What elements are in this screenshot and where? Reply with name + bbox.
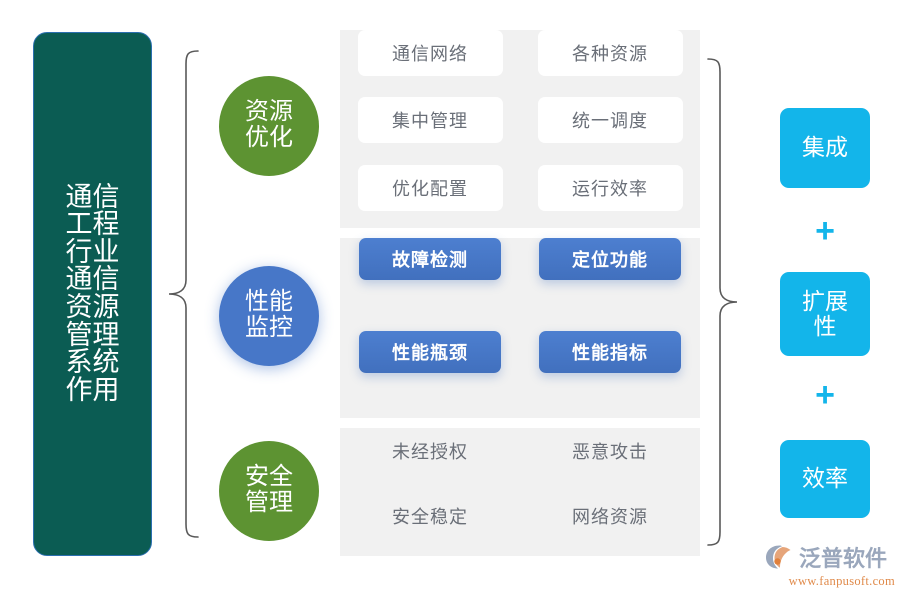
system-title-text: 通信工程行业通信资源管理系统作用	[56, 184, 130, 404]
logo-row: 泛普软件	[765, 541, 895, 573]
category-label: 安全管理	[241, 465, 297, 517]
resource-card[interactable]: 各种资源	[538, 30, 683, 76]
security-item: 网络资源	[572, 493, 648, 539]
security-item: 恶意攻击	[572, 428, 648, 474]
outcome-label: 效率	[797, 466, 853, 491]
plus-operator-icon: +	[780, 378, 870, 412]
logo-website-url: www.fanpusoft.com	[765, 574, 895, 589]
outcome-label: 扩展性	[797, 289, 853, 340]
category-circle-performance-monitoring[interactable]: 性能监控	[219, 266, 319, 366]
security-item: 未经授权	[392, 428, 468, 474]
performance-card[interactable]: 性能指标	[539, 331, 681, 373]
outcome-box-scalability[interactable]: 扩展性	[780, 272, 870, 356]
left-curly-brace-icon	[166, 48, 200, 540]
category-circle-resource-optimization[interactable]: 资源优化	[219, 76, 319, 176]
panel-performance-monitoring: 故障检测 定位功能 性能瓶颈 性能指标	[340, 238, 700, 418]
right-curly-brace-icon	[706, 56, 740, 548]
outcome-box-integration[interactable]: 集成	[780, 108, 870, 188]
resource-card[interactable]: 统一调度	[538, 97, 683, 143]
category-label: 性能监控	[241, 290, 297, 342]
performance-card[interactable]: 性能瓶颈	[359, 331, 501, 373]
performance-card[interactable]: 定位功能	[539, 238, 681, 280]
resource-card[interactable]: 运行效率	[538, 165, 683, 211]
performance-card[interactable]: 故障检测	[359, 238, 501, 280]
resource-card[interactable]: 优化配置	[358, 165, 503, 211]
diagram-canvas: 通信工程行业通信资源管理系统作用 资源优化 性能监控 安全管理 通信网络 各种资…	[0, 0, 900, 600]
category-circle-security-management[interactable]: 安全管理	[219, 441, 319, 541]
panel-resource-optimization: 通信网络 各种资源 集中管理 统一调度 优化配置 运行效率	[340, 30, 700, 228]
system-title-panel: 通信工程行业通信资源管理系统作用	[33, 32, 152, 556]
security-item: 安全稳定	[392, 493, 468, 539]
outcome-label: 集成	[797, 135, 853, 160]
panel-security-management: 未经授权 恶意攻击 安全稳定 网络资源	[340, 428, 700, 556]
brand-logo[interactable]: 泛普软件 www.fanpusoft.com	[765, 541, 895, 589]
plus-operator-icon: +	[780, 214, 870, 248]
resource-card[interactable]: 集中管理	[358, 97, 503, 143]
resource-card[interactable]: 通信网络	[358, 30, 503, 76]
fanpu-swirl-logo-icon	[765, 544, 795, 570]
category-label: 资源优化	[241, 100, 297, 152]
logo-company-name: 泛普软件	[799, 541, 887, 573]
outcome-box-efficiency[interactable]: 效率	[780, 440, 870, 518]
